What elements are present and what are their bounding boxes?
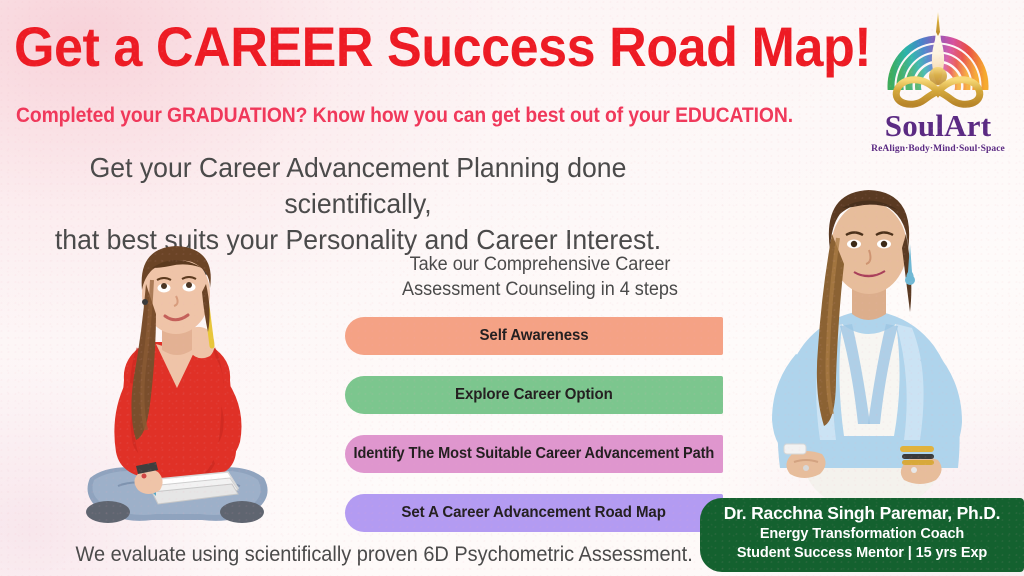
- soulart-logo: SoulArt ReAlign·Body·Mind·Soul·Space: [864, 6, 1012, 166]
- step-bar-3[interactable]: Identify The Most Suitable Career Advanc…: [345, 435, 723, 473]
- logo-tagline: ReAlign·Body·Mind·Soul·Space: [864, 144, 1012, 154]
- career-roadmap-poster: Get a CAREER Success Road Map! Completed…: [0, 0, 1024, 576]
- presenter-credentials: Student Success Mentor | 15 yrs Exp: [700, 544, 1024, 563]
- soulart-rainbow-infinity-flame-icon: [864, 6, 1012, 114]
- steps-list: Self Awareness Explore Career Option Ide…: [345, 317, 723, 532]
- step-label-1: Self Awareness: [479, 327, 588, 345]
- step-bar-1[interactable]: Self Awareness: [345, 317, 723, 355]
- steps-heading-line-2: Assessment Counseling in 4 steps: [402, 279, 678, 300]
- presenter-name: Dr. Racchna Singh Paremar, Ph.D.: [700, 503, 1024, 525]
- steps-heading-line-1: Take our Comprehensive Career: [410, 254, 671, 275]
- step-bar-2[interactable]: Explore Career Option: [345, 376, 723, 414]
- step-label-2: Explore Career Option: [455, 386, 613, 404]
- step-bar-4[interactable]: Set A Career Advancement Road Map: [345, 494, 723, 532]
- step-label-4: Set A Career Advancement Road Map: [402, 504, 666, 522]
- page-title: Get a CAREER Success Road Map!: [14, 18, 693, 75]
- lede-line-1: Get your Career Advancement Planning don…: [90, 152, 627, 219]
- steps-heading: Take our Comprehensive Career Assessment…: [398, 252, 683, 303]
- step-label-3: Identify The Most Suitable Career Advanc…: [354, 445, 715, 463]
- presenter-name-banner: Dr. Racchna Singh Paremar, Ph.D. Energy …: [700, 498, 1024, 572]
- coach-photo: [718, 168, 1018, 528]
- logo-wordmark: SoulArt: [864, 110, 1012, 141]
- student-photo: [52, 228, 302, 548]
- subheadline: Completed your GRADUATION? Know how you …: [16, 104, 678, 128]
- presenter-title: Energy Transformation Coach: [700, 525, 1024, 544]
